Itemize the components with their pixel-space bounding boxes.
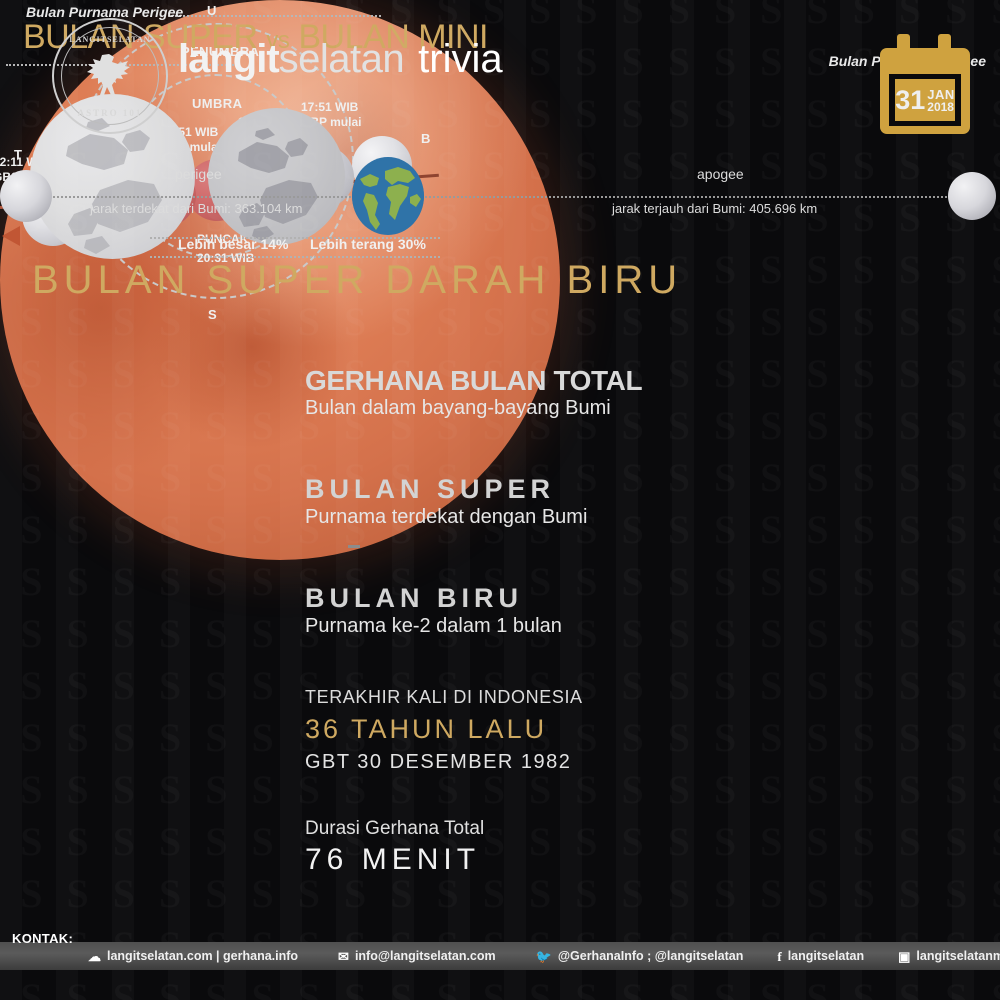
minimoon-image (208, 108, 345, 245)
perigee-distance-text: jarak terdekat dari Bumi: 363.104 km (90, 201, 302, 216)
footer-kontak-label: KONTAK: (12, 931, 73, 946)
last-event-label: TERAKHIR KALI DI INDONESIA (305, 687, 583, 708)
instagram-icon: ▣ (898, 950, 910, 963)
footer-item-instagram[interactable]: ▣ langitselatanmedia (898, 949, 1000, 963)
twitter-icon: 🐦 (536, 950, 552, 963)
brand-wordmark: langitselatantrivia (178, 38, 503, 80)
decorative-dash (348, 545, 360, 548)
cardinal-south-label: S (208, 307, 217, 322)
caption-brighter: Lebih terang 30% (310, 236, 426, 252)
footer-website-text: langitselatan.com | gerhana.info (107, 949, 298, 963)
calendar-day: 31 (895, 87, 925, 114)
apogee-label: apogee (697, 166, 744, 182)
calendar-date-panel: 31 JAN 2018 (895, 79, 955, 121)
brand-selatan: selatan (279, 37, 404, 81)
seal-top-label: LANGITSELATAN (54, 35, 166, 44)
footer-twitter-text: @GerhanaInfo ; @langitselatan (558, 949, 744, 963)
last-event-years: 36 TAHUN LALU (305, 714, 547, 745)
perigee-moon-icon (0, 170, 52, 222)
facebook-icon: f (777, 950, 781, 963)
seal-bottom-label: ASTRO 101 (54, 108, 166, 118)
fact-subtitle-bulan-biru: Purnama ke-2 dalam 1 bulan (305, 615, 562, 638)
fact-subtitle-bulan-super: Purnama terdekat dengan Bumi (305, 506, 587, 529)
earth-globe-icon (352, 157, 424, 235)
horse-rider-icon (79, 50, 141, 102)
footer-item-twitter[interactable]: 🐦 @GerhanaInfo ; @langitselatan (536, 949, 744, 963)
footer-facebook-text: langitselatan (788, 949, 864, 963)
calendar-body: 31 JAN 2018 (880, 48, 970, 134)
apogee-moon-icon (948, 172, 996, 220)
calendar-icon: 31 JAN 2018 (880, 34, 970, 134)
astro-seal-logo: LANGITSELATAN ASTRO 101 (52, 18, 168, 134)
calendar-screen: 31 JAN 2018 (889, 74, 961, 126)
umbra-label: UMBRA (192, 96, 242, 111)
email-icon: ✉ (338, 950, 349, 963)
moon-path-arrow-icon (2, 226, 20, 246)
fact-subtitle-gerhana-bulan-total: Bulan dalam bayang-bayang Bumi (305, 397, 611, 420)
brand-langit: langit (178, 37, 279, 81)
cardinal-east-label: B (421, 131, 430, 146)
last-event-date: GBT 30 DESEMBER 1982 (305, 751, 571, 774)
duration-label: Durasi Gerhana Total (305, 818, 484, 840)
rss-icon: ☁ (88, 950, 101, 963)
fact-title-bulan-biru: BULAN BIRU (305, 583, 523, 614)
brand-trivia: trivia (418, 37, 502, 81)
footer-item-website[interactable]: ☁ langitselatan.com | gerhana.info (88, 949, 298, 963)
apogee-distance-text: jarak terjauh dari Bumi: 405.696 km (612, 201, 817, 216)
footer-item-facebook[interactable]: f langitselatan (777, 949, 864, 963)
vs-kicker-dotted-line (168, 15, 381, 17)
calendar-year: 2018 (927, 101, 955, 113)
footer-item-email[interactable]: ✉ info@langitselatan.com (338, 949, 496, 963)
fact-title-bulan-super: BULAN SUPER (305, 474, 555, 505)
page-title: BULAN SUPER DARAH BIRU (32, 258, 682, 303)
calendar-month: JAN (927, 88, 955, 101)
infographic-canvas: SSSSSSSSSSSSSSSSSSSSSSSSSSSSSSSSSSSSSSSS… (0, 0, 1000, 1000)
perigee-label: perigee (175, 166, 222, 182)
duration-value: 76 MENIT (305, 843, 480, 877)
caption-bigger: Lebih besar 14% (178, 236, 289, 252)
footer-instagram-text: langitselatanmedia (916, 949, 1000, 963)
fact-title-gerhana-bulan-total: GERHANA BULAN TOTAL (305, 365, 642, 397)
contact-footer-bar: ☁ langitselatan.com | gerhana.info ✉ inf… (0, 942, 1000, 970)
orbit-dotted-line (22, 196, 978, 198)
footer-email-text: info@langitselatan.com (355, 949, 496, 963)
phase-time-1751: 17:51 WIB (301, 100, 358, 114)
